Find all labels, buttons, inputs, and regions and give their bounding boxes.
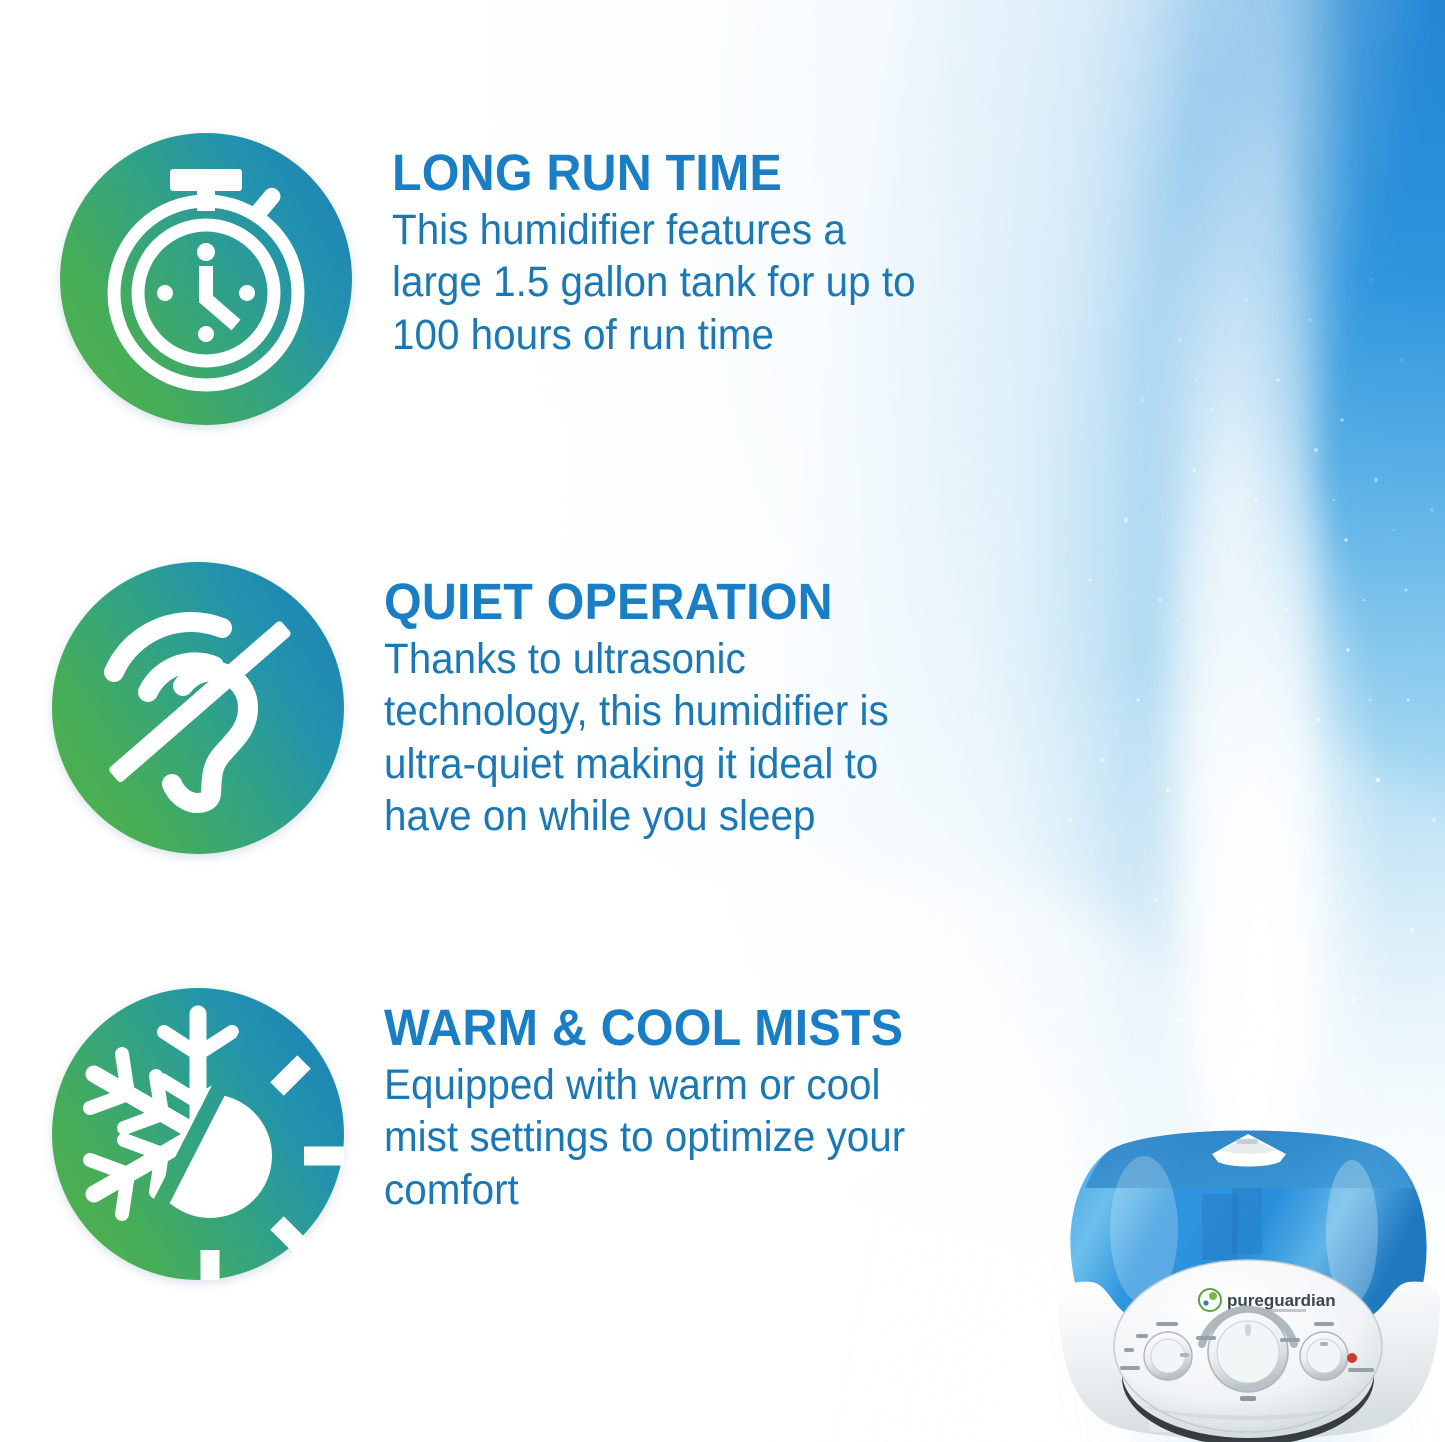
feature-long-run-time: LONG RUN TIME This humidifier features a… [60,133,1032,425]
feature-icon-wrap [52,562,344,854]
stopwatch-icon [60,133,352,425]
feature-body-line: mist settings to optimize your [384,1111,986,1163]
feature-text: LONG RUN TIME This humidifier features a… [392,133,1032,361]
feature-heading: LONG RUN TIME [392,147,1000,198]
feature-body-line: 100 hours of run time [392,309,994,361]
feature-body-line: have on while you sleep [384,790,986,842]
feature-text: WARM & COOL MISTS Equipped with warm or … [384,988,1024,1216]
feature-text: QUIET OPERATION Thanks to ultrasonic tec… [384,562,1024,843]
feature-body-line: comfort [384,1164,986,1216]
feature-body: Equipped with warm or cool mist settings… [384,1059,986,1216]
feature-icon-wrap [60,133,352,425]
feature-heading: QUIET OPERATION [384,576,992,627]
humidifier-product-image: pureguardian [1052,1110,1445,1442]
feature-body-line: large 1.5 gallon tank for up to [392,256,994,308]
feature-quiet-operation: QUIET OPERATION Thanks to ultrasonic tec… [52,562,1024,854]
feature-body-line: Equipped with warm or cool [384,1059,986,1111]
feature-body-line: technology, this humidifier is [384,685,986,737]
feature-warm-cool-mists: WARM & COOL MISTS Equipped with warm or … [52,988,1024,1280]
feature-body-line: This humidifier features a [392,204,994,256]
feature-body-line: Thanks to ultrasonic [384,633,986,685]
feature-body: Thanks to ultrasonic technology, this hu… [384,633,986,843]
feature-body: This humidifier features a large 1.5 gal… [392,204,994,361]
feature-heading: WARM & COOL MISTS [384,1002,992,1053]
product-feature-image: LONG RUN TIME This humidifier features a… [0,0,1445,1442]
no-hearing-ear-icon [52,562,344,854]
feature-body-line: ultra-quiet making it ideal to [384,738,986,790]
feature-icon-wrap [52,988,344,1280]
snowflake-sun-icon [52,988,344,1280]
